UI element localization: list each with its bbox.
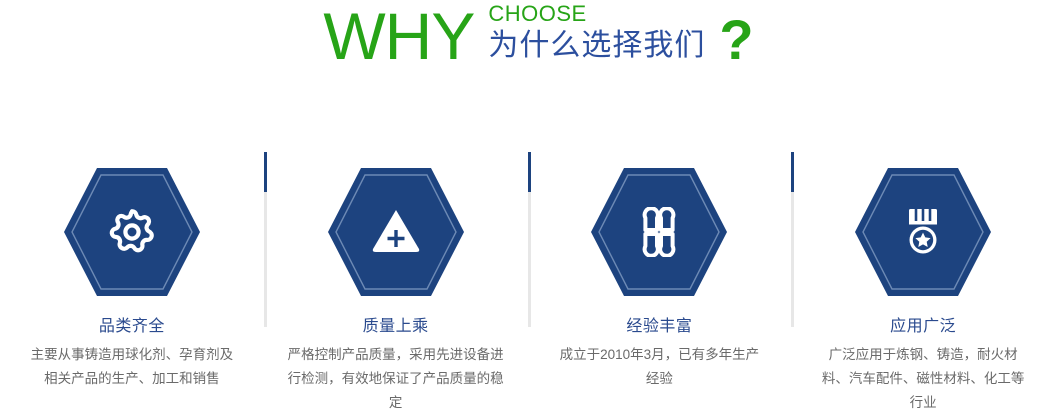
feature-card-title: 经验丰富 — [626, 317, 692, 337]
medal-star-icon — [895, 204, 951, 260]
hexagon-badge — [62, 166, 202, 298]
question-mark-icon: ? — [719, 12, 753, 68]
page-title-choose: CHOOSE — [488, 2, 705, 26]
card-divider — [528, 152, 531, 327]
why-choose-us-section: WHY CHOOSE 为什么选择我们 ? — [0, 0, 1055, 416]
gear-icon — [104, 204, 160, 260]
hexagon-badge — [853, 166, 993, 298]
page-title-group: CHOOSE 为什么选择我们 — [488, 2, 705, 64]
page-title-chinese: 为什么选择我们 — [488, 28, 705, 64]
feature-card-title: 品类齐全 — [99, 317, 165, 337]
card-divider — [264, 152, 267, 327]
section-header: WHY CHOOSE 为什么选择我们 ? — [0, 0, 1055, 92]
feature-card-yingyongguangfan[interactable]: 应用广泛 广泛应用于炼钢、铸造，耐火材料、汽车配件、磁性材料、化工等行业 — [791, 150, 1055, 416]
card-divider — [791, 152, 794, 327]
feature-card-list: 品类齐全 主要从事铸造用球化剂、孕育剂及相关产品的生产、加工和销售 — [0, 150, 1055, 416]
feature-card-body: 成立于2010年3月，已有多年生产经验 — [549, 343, 769, 391]
feature-card-title: 质量上乘 — [363, 317, 429, 337]
feature-card-title: 应用广泛 — [890, 317, 956, 337]
feature-card-jingyanfengfu[interactable]: 经验丰富 成立于2010年3月，已有多年生产经验 — [528, 150, 792, 416]
hexagon-badge — [589, 166, 729, 298]
page-title-why: WHY — [323, 4, 474, 68]
feature-card-pinleiqiquan[interactable]: 品类齐全 主要从事铸造用球化剂、孕育剂及相关产品的生产、加工和销售 — [0, 150, 264, 416]
feature-card-body: 主要从事铸造用球化剂、孕育剂及相关产品的生产、加工和销售 — [19, 343, 245, 391]
triangle-plus-icon — [368, 204, 424, 260]
clover-icon — [631, 204, 687, 260]
feature-card-body: 严格控制产品质量，采用先进设备进行检测，有效地保证了产品质量的稳定 — [278, 343, 514, 415]
section-header-inner: WHY CHOOSE 为什么选择我们 ? — [323, 0, 753, 68]
feature-card-zhiliangshangcheng[interactable]: 质量上乘 严格控制产品质量，采用先进设备进行检测，有效地保证了产品质量的稳定 — [264, 150, 528, 416]
feature-card-body: 广泛应用于炼钢、铸造，耐火材料、汽车配件、磁性材料、化工等行业 — [814, 343, 1032, 415]
hexagon-badge — [326, 166, 466, 298]
